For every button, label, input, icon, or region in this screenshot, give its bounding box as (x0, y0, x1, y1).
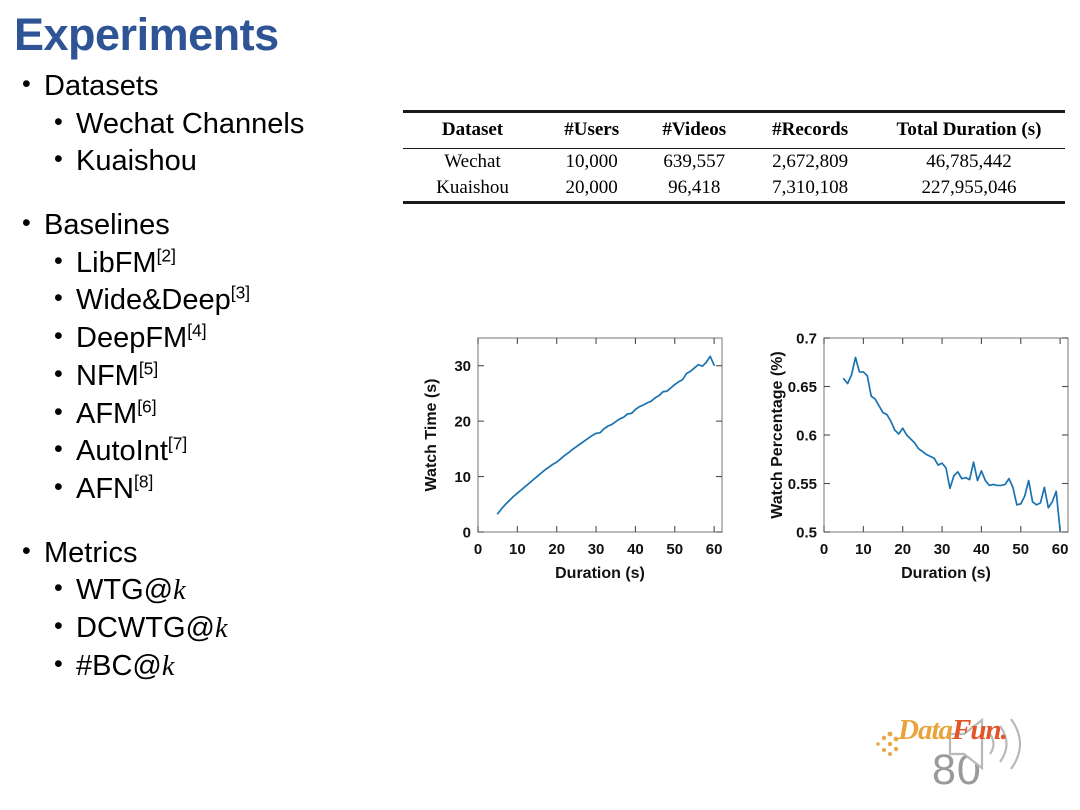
logo-text-data: Data (898, 714, 952, 746)
table-cell: 46,785,442 (873, 149, 1065, 176)
svg-text:10: 10 (509, 541, 526, 558)
chart-svg-watch-percentage: 01020304050600.50.550.60.650.7Duration (… (746, 326, 1076, 584)
list-item: • AFM[6] (54, 396, 400, 434)
outline-list: • Datasets • Wechat Channels • Kuaishou … (0, 68, 400, 685)
metric-k-symbol: k (215, 613, 227, 644)
svg-text:Duration (s): Duration (s) (555, 565, 645, 582)
outline-item-label: Wide&Deep[3] (76, 282, 250, 320)
outline-item-label: AFM[6] (76, 396, 157, 434)
bullet-glyph: • (54, 433, 76, 466)
table-row: Wechat 10,000 639,557 2,672,809 46,785,4… (403, 149, 1065, 176)
bullet-glyph: • (22, 207, 44, 240)
outline-section-label: Metrics (44, 535, 137, 573)
page-title: Experiments (14, 12, 279, 57)
table-header-cell: #Records (747, 112, 873, 149)
svg-text:0: 0 (820, 541, 828, 558)
dataset-stats-table: Dataset #Users #Videos #Records Total Du… (403, 110, 1065, 204)
svg-text:0.55: 0.55 (788, 476, 817, 493)
spacer (0, 181, 400, 207)
table-row: Kuaishou 20,000 96,418 7,310,108 227,955… (403, 175, 1065, 203)
svg-text:Watch Time (s): Watch Time (s) (423, 379, 440, 492)
outline-item-label: DCWTG@k (76, 610, 227, 648)
bullet-glyph: • (22, 535, 44, 568)
outline-item-label: AFN[8] (76, 471, 153, 509)
bullet-glyph: • (54, 245, 76, 278)
bullet-glyph: • (54, 358, 76, 391)
citation-superscript: [2] (157, 245, 176, 265)
list-item: • DCWTG@k (54, 610, 400, 648)
list-item: • AFN[8] (54, 471, 400, 509)
svg-text:0.5: 0.5 (796, 525, 817, 542)
list-item: • DeepFM[4] (54, 320, 400, 358)
chart-svg-watch-time: 01020304050600102030Duration (s)Watch Ti… (400, 326, 730, 584)
svg-text:60: 60 (1052, 541, 1069, 558)
table-cell: Kuaishou (403, 175, 542, 203)
outline-item-label: AutoInt[7] (76, 433, 187, 471)
footer: 80 DataFun. (872, 690, 1072, 808)
bullet-glyph: • (54, 143, 76, 176)
outline-item-label: LibFM[2] (76, 245, 176, 283)
table-cell: 227,955,046 (873, 175, 1065, 203)
bullet-glyph: • (54, 471, 76, 504)
chart-watch-time: 01020304050600102030Duration (s)Watch Ti… (400, 326, 730, 584)
outline-item-label: Wechat Channels (76, 106, 304, 144)
svg-text:0: 0 (474, 541, 482, 558)
table-header-cell: #Users (542, 112, 641, 149)
svg-text:50: 50 (1012, 541, 1029, 558)
list-item: • Kuaishou (54, 143, 400, 181)
table-header-cell: Dataset (403, 112, 542, 149)
svg-text:20: 20 (454, 414, 471, 431)
outline-item-label: #BC@k (76, 648, 174, 686)
svg-text:20: 20 (548, 541, 565, 558)
citation-superscript: [7] (168, 434, 187, 454)
table-cell: 2,672,809 (747, 149, 873, 176)
table-cell: 10,000 (542, 149, 641, 176)
bullet-glyph: • (54, 610, 76, 643)
svg-text:10: 10 (855, 541, 872, 558)
list-item: • WTG@k (54, 572, 400, 610)
bullet-glyph: • (54, 106, 76, 139)
citation-superscript: [3] (231, 283, 250, 303)
spacer (0, 509, 400, 535)
table-cell: 639,557 (641, 149, 747, 176)
citation-superscript: [5] (139, 358, 158, 378)
outline-section-metrics: • Metrics (22, 535, 400, 573)
svg-text:50: 50 (666, 541, 683, 558)
table-cell: 96,418 (641, 175, 747, 203)
outline-section-baselines: • Baselines (22, 207, 400, 245)
outline-section-label: Datasets (44, 68, 158, 106)
list-item: • Wechat Channels (54, 106, 400, 144)
bullet-glyph: • (54, 320, 76, 353)
table-cell: 20,000 (542, 175, 641, 203)
logo-text: DataFun. (898, 714, 1007, 747)
citation-superscript: [6] (137, 396, 156, 416)
outline-section-datasets: • Datasets (22, 68, 400, 106)
outline-section-label: Baselines (44, 207, 170, 245)
list-item: • AutoInt[7] (54, 433, 400, 471)
bullet-glyph: • (54, 396, 76, 429)
svg-text:30: 30 (588, 541, 605, 558)
bullet-glyph: • (54, 648, 76, 681)
svg-text:Watch Percentage (%): Watch Percentage (%) (769, 351, 786, 518)
table-header-row: Dataset #Users #Videos #Records Total Du… (403, 112, 1065, 149)
list-item: • #BC@k (54, 648, 400, 686)
chart-watch-percentage: 01020304050600.50.550.60.650.7Duration (… (746, 326, 1076, 584)
svg-text:Duration (s): Duration (s) (901, 565, 991, 582)
svg-text:30: 30 (934, 541, 951, 558)
logo-dots-icon (876, 732, 898, 756)
logo-text-fun: Fun. (952, 714, 1007, 746)
svg-text:0.6: 0.6 (796, 428, 817, 445)
citation-superscript: [4] (187, 320, 206, 340)
bullet-glyph: • (54, 282, 76, 315)
outline-item-label: Kuaishou (76, 143, 197, 181)
table-header-cell: Total Duration (s) (873, 112, 1065, 149)
table-header-cell: #Videos (641, 112, 747, 149)
outline-item-label: DeepFM[4] (76, 320, 207, 358)
slide-root: Experiments • Datasets • Wechat Channels… (0, 0, 1080, 810)
svg-text:60: 60 (706, 541, 723, 558)
svg-text:20: 20 (894, 541, 911, 558)
bullet-glyph: • (54, 572, 76, 605)
outline-item-label: WTG@k (76, 572, 186, 610)
table-cell: 7,310,108 (747, 175, 873, 203)
list-item: • NFM[5] (54, 358, 400, 396)
bullet-glyph: • (22, 68, 44, 101)
outline-item-label: NFM[5] (76, 358, 158, 396)
svg-text:0.65: 0.65 (788, 379, 817, 396)
figure-panel: 01020304050600102030Duration (s)Watch Ti… (400, 326, 1076, 584)
metric-k-symbol: k (173, 575, 185, 606)
svg-text:0.7: 0.7 (796, 331, 817, 348)
citation-superscript: [8] (134, 471, 153, 491)
svg-text:40: 40 (627, 541, 644, 558)
svg-text:40: 40 (973, 541, 990, 558)
svg-text:10: 10 (454, 469, 471, 486)
list-item: • LibFM[2] (54, 245, 400, 283)
svg-text:0: 0 (463, 525, 471, 542)
table-cell: Wechat (403, 149, 542, 176)
list-item: • Wide&Deep[3] (54, 282, 400, 320)
metric-k-symbol: k (162, 651, 174, 682)
svg-text:30: 30 (454, 358, 471, 375)
